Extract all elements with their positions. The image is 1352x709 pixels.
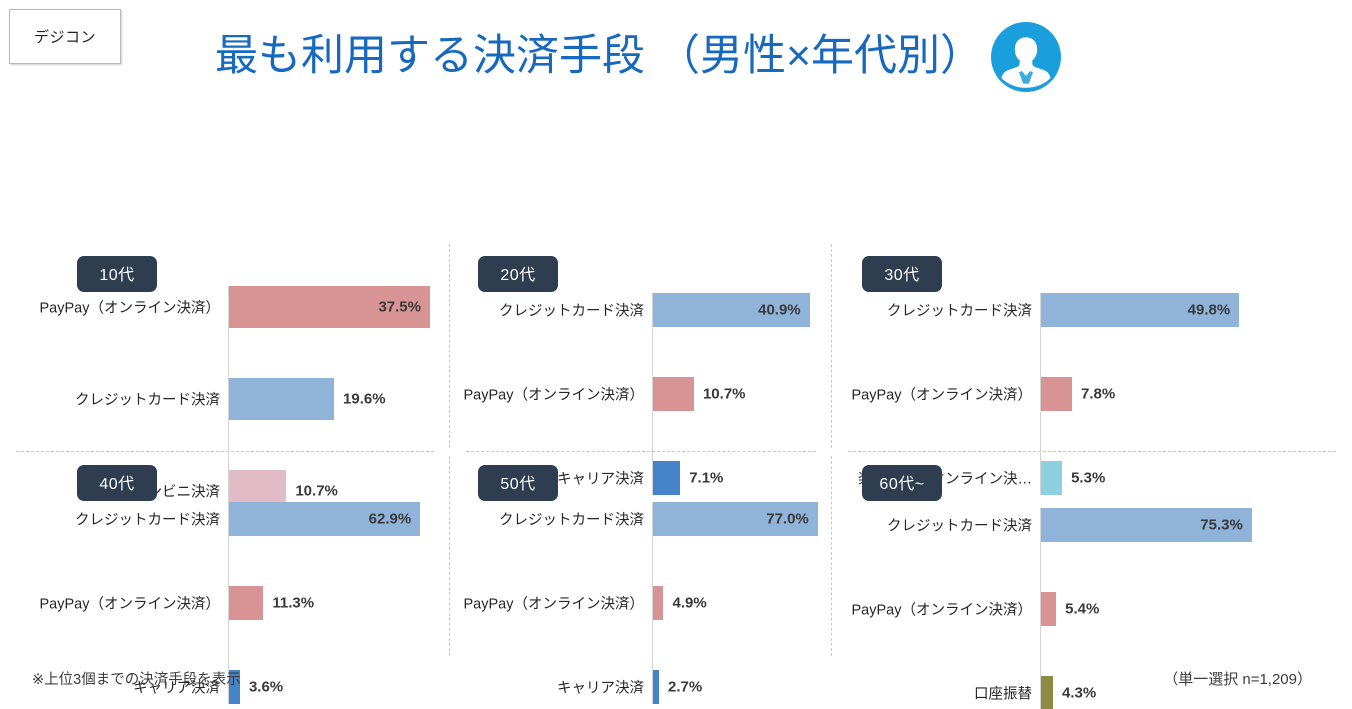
bar-category-label: クレジットカード決済 (75, 389, 220, 410)
page-title-text: 最も利用する決済手段 （男性×年代別） (215, 33, 983, 80)
age-badge-30s: 30代 (862, 256, 942, 292)
bar-category-label: 口座振替 (974, 683, 1032, 704)
bar-value-label: 10.7% (703, 386, 746, 403)
bar-segment (653, 670, 659, 704)
bar-category-label: PayPay（オンライン決済） (852, 384, 1032, 405)
male-avatar-icon (991, 22, 1061, 92)
bar-category-label: PayPay（オンライン決済） (464, 593, 644, 614)
footnote-right: （単一選択 n=1,209） (1163, 668, 1312, 689)
bar-segment (1041, 592, 1056, 626)
age-badge-10s: 10代 (77, 256, 157, 292)
slide-root: デジコン 最も利用する決済手段 （男性×年代別） 10代PayPay（オンライン… (0, 0, 1352, 709)
page-title: 最も利用する決済手段 （男性×年代別） (215, 22, 1061, 92)
bar-value-label: 2.7% (668, 679, 702, 696)
bar-row: 楽天ペイ（オンライン決…5.3% (1040, 461, 1352, 495)
bar-value-label: 11.3% (272, 595, 314, 612)
bar-category-label: クレジットカード決済 (75, 509, 220, 530)
bar-value-label: 7.1% (689, 470, 723, 487)
bar-value-label: 4.3% (1062, 685, 1096, 702)
bar-value-label: 10.7% (295, 483, 338, 500)
bar-value-label: 19.6% (343, 391, 386, 408)
age-badge-60s: 60代~ (862, 465, 942, 501)
bar-segment (653, 461, 680, 495)
bar-row: キャリア決済3.6% (228, 670, 568, 704)
bar-value-label: 40.9% (758, 302, 801, 319)
bar-category-label: キャリア決済 (557, 677, 644, 698)
bar-value-label: 5.3% (1071, 470, 1105, 487)
bar-row: クレジットカード決済49.8% (1040, 293, 1352, 327)
age-badge-40s: 40代 (77, 465, 157, 501)
bar-category-label: PayPay（オンライン決済） (464, 384, 644, 405)
bar-value-label: 5.4% (1065, 601, 1099, 618)
bar-row: キャリア決済2.7% (652, 670, 992, 704)
bar-row: PayPay（オンライン決済）7.8% (1040, 377, 1352, 411)
bar-category-label: クレジットカード決済 (499, 509, 644, 530)
brand-logo-box: デジコン (9, 9, 121, 64)
bar-value-label: 49.8% (1188, 302, 1231, 319)
bar-category-label: キャリア決済 (557, 468, 644, 489)
age-badge-20s: 20代 (478, 256, 558, 292)
bar-value-label: 62.9% (369, 511, 412, 528)
bar-row: PayPay（オンライン決済）5.4% (1040, 592, 1352, 626)
bar-segment (229, 586, 263, 620)
bar-chart-30s: クレジットカード決済49.8%PayPay（オンライン決済）7.8%楽天ペイ（オ… (1040, 293, 1352, 495)
bar-value-label: 7.8% (1081, 386, 1115, 403)
age-badge-50s: 50代 (478, 465, 558, 501)
bar-category-label: クレジットカード決済 (887, 300, 1032, 321)
bar-segment (653, 586, 663, 620)
bar-category-label: PayPay（オンライン決済） (852, 599, 1032, 620)
footnote-left: ※上位3個までの決済手段を表示 (32, 668, 241, 689)
bar-category-label: PayPay（オンライン決済） (40, 297, 220, 318)
bar-value-label: 3.6% (249, 679, 283, 696)
bar-segment (229, 378, 334, 420)
bar-row: クレジットカード決済75.3% (1040, 508, 1352, 542)
bar-segment (653, 377, 694, 411)
bar-value-label: 4.9% (672, 595, 706, 612)
bar-value-label: 75.3% (1200, 517, 1243, 534)
bar-value-label: 37.5% (378, 299, 421, 316)
bar-segment (1041, 676, 1053, 709)
male-avatar-icon-svg (991, 22, 1061, 92)
brand-logo-label: デジコン (34, 26, 96, 47)
bar-segment (1041, 461, 1062, 495)
bar-segment (1041, 377, 1072, 411)
bar-category-label: クレジットカード決済 (887, 515, 1032, 536)
bar-category-label: PayPay（オンライン決済） (40, 593, 220, 614)
bar-value-label: 77.0% (766, 511, 809, 528)
bar-category-label: クレジットカード決済 (499, 300, 644, 321)
